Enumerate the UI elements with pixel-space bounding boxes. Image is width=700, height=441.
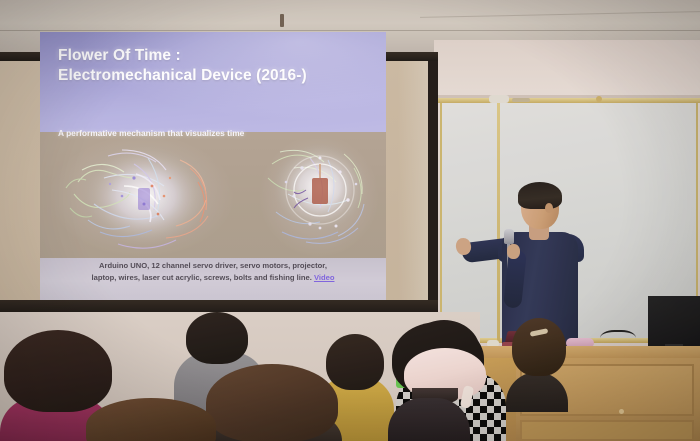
caption-line-2: laptop, wires, laser cut acrylic, screws… [92, 273, 312, 282]
slide-title: Flower Of Time : Electromechanical Devic… [58, 46, 378, 85]
ceiling-seam [0, 30, 700, 31]
screen-light-falloff [398, 61, 428, 304]
attendee-center-front-head [206, 364, 338, 441]
light-painting-right-image [258, 134, 380, 258]
attendee-magenta-top-head [4, 330, 112, 412]
video-link[interactable]: Video [314, 273, 335, 282]
whiteboard-divider [497, 100, 500, 342]
slide-caption: Arduino UNO, 12 channel servo driver, se… [54, 260, 372, 283]
whiteboard-bracket [489, 95, 509, 103]
slide-title-line-1: Flower Of Time : [58, 46, 378, 66]
presenter-ear [545, 203, 553, 213]
slide-title-line-2: Electromechanical Device (2016-) [58, 66, 378, 86]
caption-line-1: Arduino UNO, 12 channel servo driver, se… [99, 261, 327, 270]
microphone-head-icon [504, 229, 514, 244]
attendee-far-right-head [512, 318, 566, 376]
desk-monitor [648, 296, 700, 346]
presenter-hair [518, 182, 562, 209]
lecture-hall-photo: Flower Of Time : Electromechanical Devic… [0, 0, 700, 441]
slide-artwork-row [40, 132, 386, 260]
presenter-mic-hand [507, 244, 520, 259]
whiteboard-clip [512, 98, 530, 102]
whiteboard-top-rail [438, 98, 700, 103]
ceiling-mount-bolt [280, 14, 284, 27]
attendee-patterned-shirt-head [186, 312, 248, 364]
lectern-lower-panel [520, 420, 694, 441]
light-painting-left-image [48, 134, 236, 258]
lectern-knob [619, 409, 624, 414]
attendee-center-head [326, 334, 384, 390]
whiteboard-knob [596, 96, 602, 102]
projected-slide: Flower Of Time : Electromechanical Devic… [40, 32, 386, 300]
upper-wall [434, 40, 700, 97]
